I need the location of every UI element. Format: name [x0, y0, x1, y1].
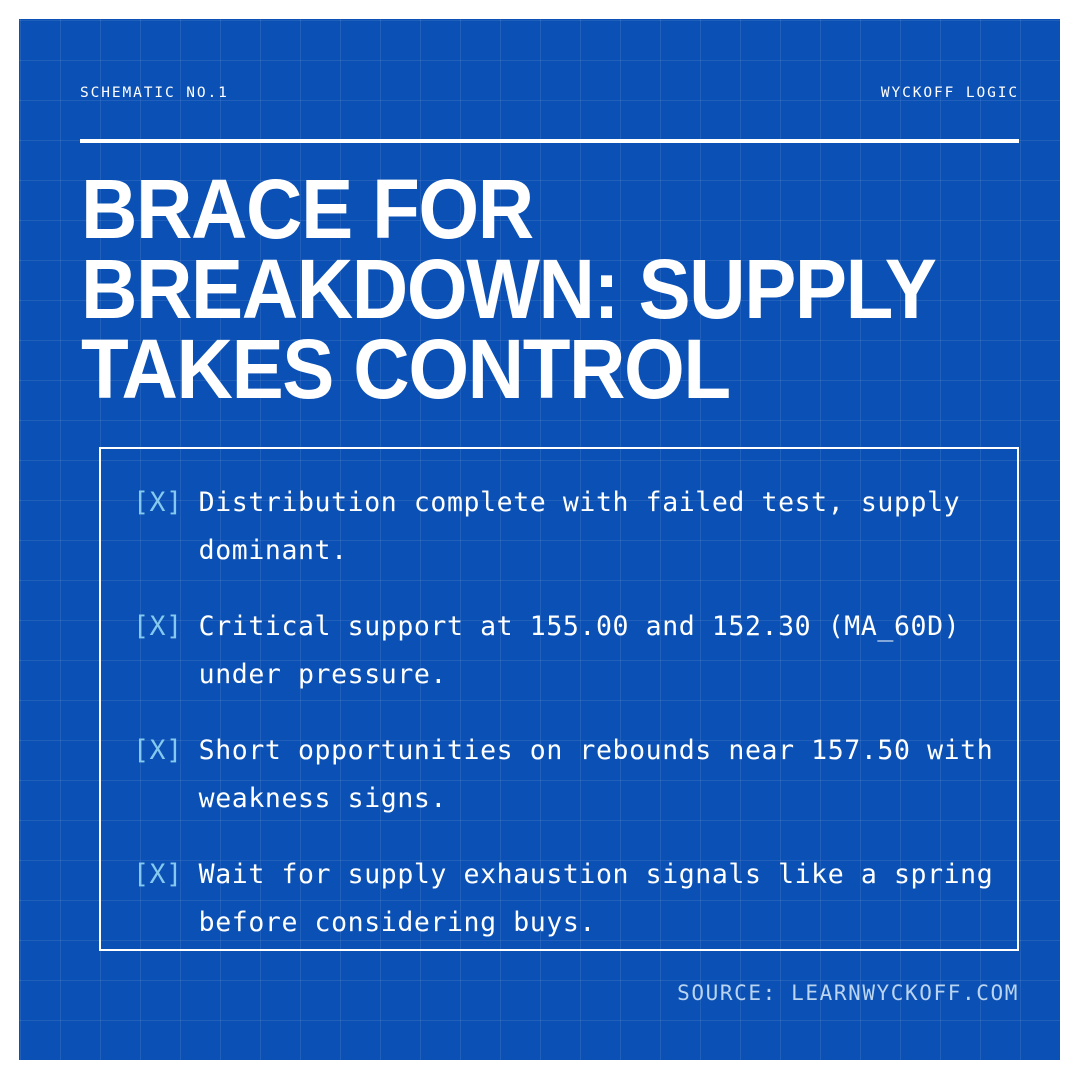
headline-line-2: BREAKDOWN: SUPPLY: [81, 249, 953, 329]
key-points-box: [X] Distribution complete with failed te…: [99, 447, 1019, 951]
list-item-text: Critical support at 155.00 and 152.30 (M…: [199, 603, 999, 699]
footer-row: SOURCE: LEARNWYCKOFF.COM: [80, 981, 1019, 1005]
checkbox-x-icon: [X]: [133, 727, 199, 775]
brand-label: WYCKOFF LOGIC: [881, 85, 1019, 101]
blueprint-panel: SCHEMATIC NO.1 WYCKOFF LOGIC BRACE FOR B…: [19, 19, 1060, 1060]
list-item: [X] Critical support at 155.00 and 152.3…: [133, 603, 999, 699]
headline-line-1: BRACE FOR: [81, 169, 953, 249]
page-title: BRACE FOR BREAKDOWN: SUPPLY TAKES CONTRO…: [81, 169, 953, 409]
schematic-number-label: SCHEMATIC NO.1: [80, 85, 229, 101]
list-item-text: Short opportunities on rebounds near 157…: [199, 727, 999, 823]
list-item-text: Wait for supply exhaustion signals like …: [199, 851, 999, 947]
checkbox-x-icon: [X]: [133, 479, 199, 527]
header-divider: [80, 139, 1019, 143]
key-points-list: [X] Distribution complete with failed te…: [133, 479, 999, 947]
list-item: [X] Wait for supply exhaustion signals l…: [133, 851, 999, 947]
headline-line-3: TAKES CONTROL: [81, 329, 953, 409]
content-area: SCHEMATIC NO.1 WYCKOFF LOGIC BRACE FOR B…: [80, 19, 1019, 1060]
list-item-text: Distribution complete with failed test, …: [199, 479, 999, 575]
card-root: SCHEMATIC NO.1 WYCKOFF LOGIC BRACE FOR B…: [0, 0, 1080, 1080]
source-attribution: SOURCE: LEARNWYCKOFF.COM: [677, 981, 1019, 1005]
checkbox-x-icon: [X]: [133, 603, 199, 651]
checkbox-x-icon: [X]: [133, 851, 199, 899]
list-item: [X] Short opportunities on rebounds near…: [133, 727, 999, 823]
list-item: [X] Distribution complete with failed te…: [133, 479, 999, 575]
header-row: SCHEMATIC NO.1 WYCKOFF LOGIC: [80, 85, 1019, 101]
